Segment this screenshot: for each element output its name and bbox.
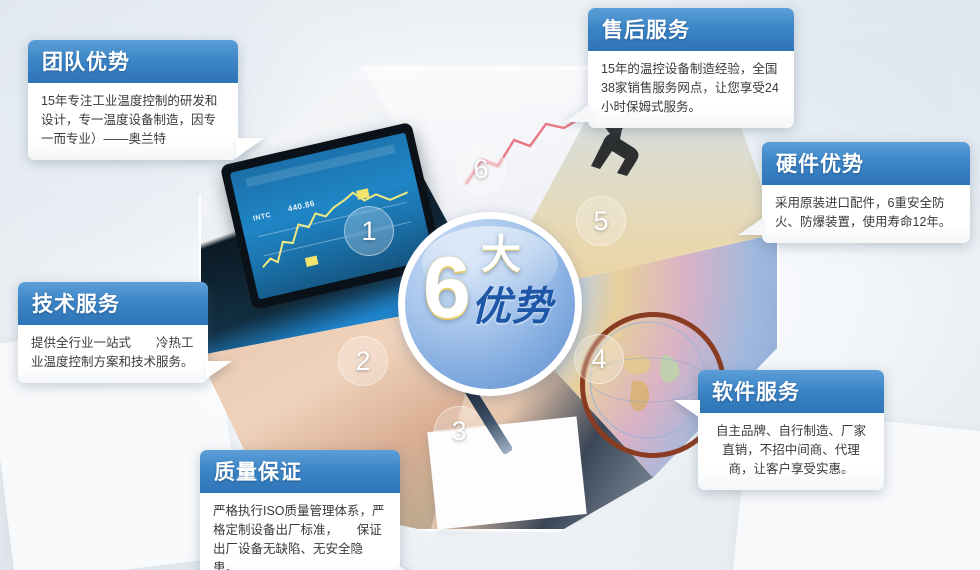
callout-team-body: 15年专注工业温度控制的研发和设计，专一温度设备制造，因专一而专业）——奥兰特 bbox=[28, 83, 238, 160]
callout-hardware-advantage[interactable]: 硬件优势 采用原装进口配件，6重安全防火、防爆装置，使用寿命12年。 bbox=[762, 142, 970, 243]
callout-software-service[interactable]: 软件服务 自主品牌、自行制造、厂家直销，不招中间商、代理商，让客户享受实惠。 bbox=[698, 370, 884, 490]
callout-after-sales[interactable]: 售后服务 15年的温控设备制造经验，全国38家销售服务网点，让您享受24小时保姆… bbox=[588, 8, 794, 128]
callout-team-advantage[interactable]: 团队优势 15年专注工业温度控制的研发和设计，专一温度设备制造，因专一而专业）—… bbox=[28, 40, 238, 160]
medallion-number: 6 bbox=[423, 245, 471, 331]
callout-quality-title: 质量保证 bbox=[200, 450, 400, 493]
callout-after-sales-title: 售后服务 bbox=[588, 8, 794, 51]
callout-tech-title: 技术服务 bbox=[18, 282, 208, 325]
medallion-inner: 6 大 优势 bbox=[405, 219, 575, 389]
segment-badge-3[interactable]: 3 bbox=[434, 406, 484, 456]
callout-tech-tail bbox=[206, 361, 232, 379]
segment-badge-1[interactable]: 1 bbox=[344, 206, 394, 256]
callout-hardware-title: 硬件优势 bbox=[762, 142, 970, 185]
center-medallion[interactable]: 6 大 优势 bbox=[398, 212, 582, 396]
callout-software-title: 软件服务 bbox=[698, 370, 884, 413]
callout-quality-guarantee[interactable]: 质量保证 严格执行ISO质量管理体系，严格定制设备出厂标准， 保证出厂设备无缺陷… bbox=[200, 450, 400, 570]
callout-quality-body: 严格执行ISO质量管理体系，严格定制设备出厂标准， 保证出厂设备无缺陷、无安全隐… bbox=[200, 493, 400, 570]
callout-technical-service[interactable]: 技术服务 提供全行业一站式 冷热工业温度控制方案和技术服务。 bbox=[18, 282, 208, 383]
medallion-unit: 大 bbox=[481, 235, 521, 275]
callout-software-body: 自主品牌、自行制造、厂家直销，不招中间商、代理商，让客户享受实惠。 bbox=[698, 413, 884, 490]
segment-badge-5[interactable]: 5 bbox=[576, 196, 626, 246]
callout-after-sales-tail bbox=[564, 104, 590, 122]
callout-quality-tail bbox=[398, 565, 424, 570]
segment-badge-4[interactable]: 4 bbox=[574, 334, 624, 384]
callout-software-tail bbox=[674, 400, 700, 418]
callout-team-tail bbox=[236, 138, 264, 158]
advantages-infographic: INTC 440.86 bbox=[0, 0, 980, 570]
segment-badge-2[interactable]: 2 bbox=[338, 336, 388, 386]
medallion-word: 优势 bbox=[471, 285, 553, 329]
segment-badge-6[interactable]: 6 bbox=[456, 144, 506, 194]
callout-team-title: 团队优势 bbox=[28, 40, 238, 83]
callout-after-sales-body: 15年的温控设备制造经验，全国38家销售服务网点，让您享受24小时保姆式服务。 bbox=[588, 51, 794, 128]
tablet-marker-low bbox=[305, 256, 319, 267]
callout-tech-body: 提供全行业一站式 冷热工业温度控制方案和技术服务。 bbox=[18, 325, 208, 383]
callout-hardware-tail bbox=[738, 217, 764, 235]
callout-hardware-body: 采用原装进口配件，6重安全防火、防爆装置，使用寿命12年。 bbox=[762, 185, 970, 243]
